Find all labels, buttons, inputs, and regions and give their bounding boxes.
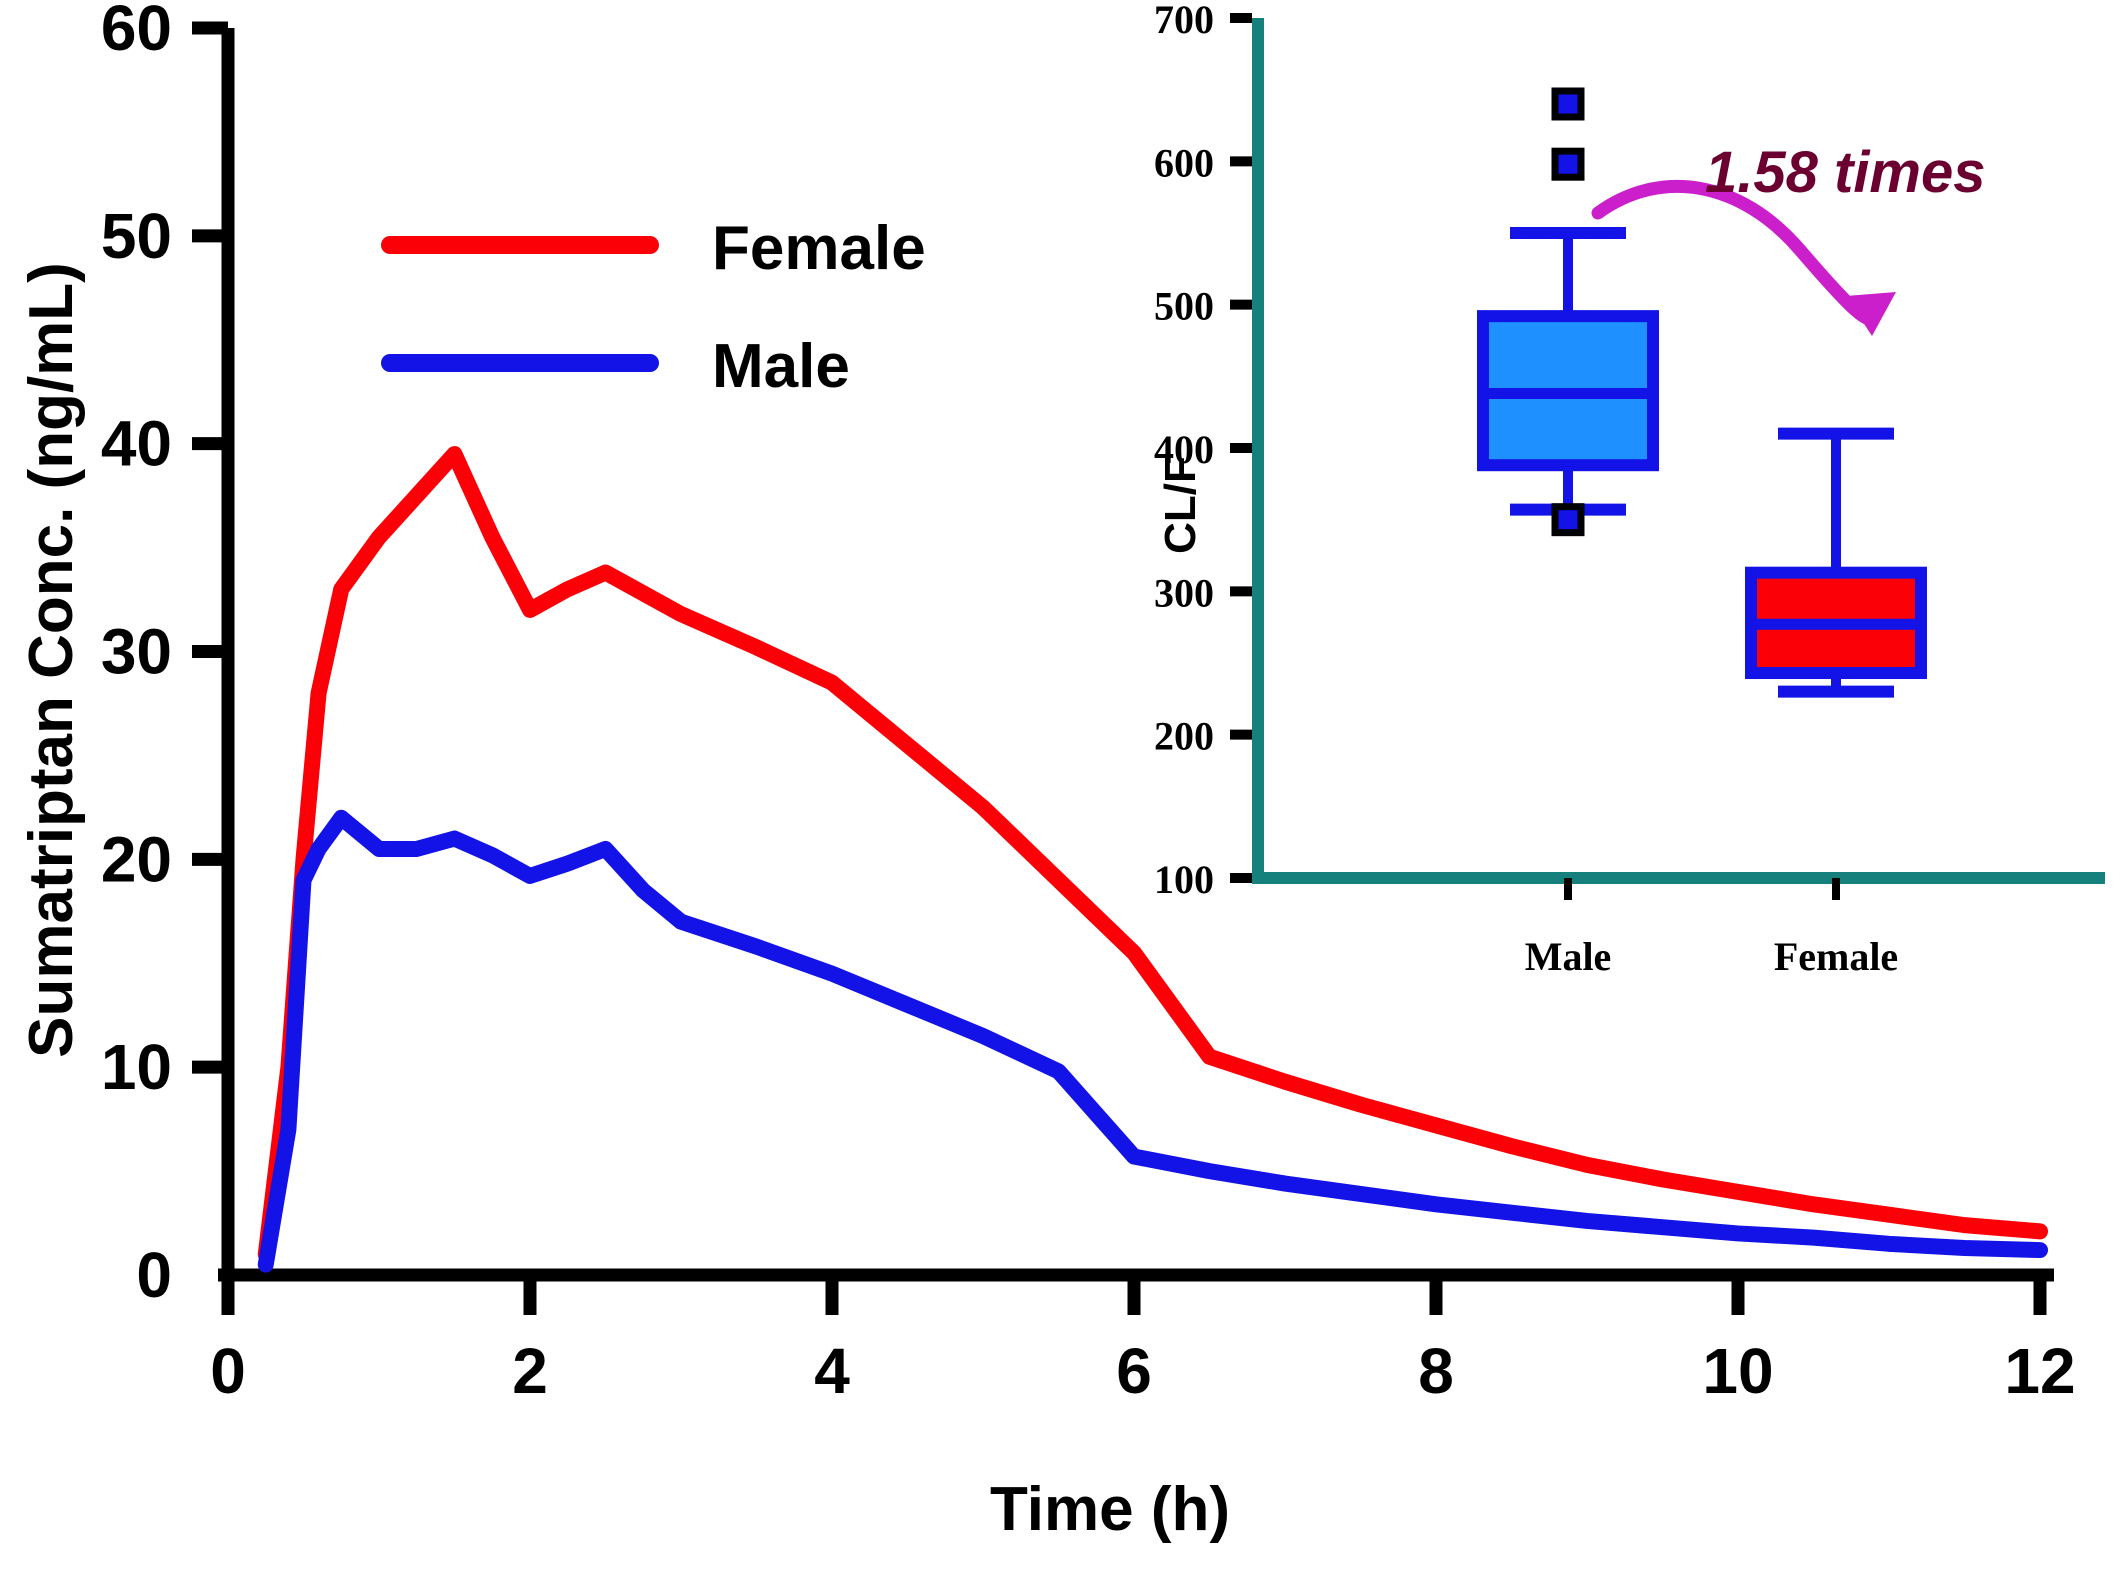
main-x-tick-label: 12 — [2004, 1335, 2075, 1407]
main-y-tick-label: 30 — [101, 616, 172, 688]
legend-label-female: Female — [712, 214, 926, 283]
main-y-tick-label: 10 — [101, 1031, 172, 1103]
main-y-tick-label: 40 — [101, 408, 172, 480]
legend-label-male: Male — [712, 332, 850, 401]
inset-y-tick-label: 500 — [1154, 284, 1214, 329]
pharmacokinetics-figure: 0102030405060024681012Sumatriptan Conc. … — [0, 0, 2128, 1573]
main-y-axis-title: Sumatriptan Conc. (ng/mL) — [17, 262, 86, 1058]
inset-y-tick-label: 200 — [1154, 714, 1214, 759]
main-x-tick-label: 2 — [512, 1335, 548, 1407]
main-y-tick-label: 20 — [101, 823, 172, 895]
main-y-tick-label: 60 — [101, 0, 172, 64]
inset-y-tick-label: 300 — [1154, 570, 1214, 615]
annotation-label: 1.58 times — [1705, 140, 1986, 205]
inset-category-label-male: Male — [1525, 934, 1612, 979]
inset-outlier-point-male — [1555, 151, 1581, 177]
inset-category-label-female: Female — [1774, 934, 1898, 979]
main-x-axis-title: Time (h) — [990, 1475, 1230, 1544]
main-y-tick-label: 0 — [136, 1239, 172, 1311]
inset-outlier-point-male — [1555, 507, 1581, 533]
main-x-tick-label: 4 — [814, 1335, 850, 1407]
figure-canvas: 0102030405060024681012Sumatriptan Conc. … — [0, 0, 2128, 1573]
main-x-tick-label: 8 — [1418, 1335, 1454, 1407]
main-x-tick-label: 10 — [1702, 1335, 1773, 1407]
inset-y-tick-label: 700 — [1154, 0, 1214, 42]
main-x-tick-label: 6 — [1116, 1335, 1152, 1407]
main-y-tick-label: 50 — [101, 200, 172, 272]
annotation-arrow-curve — [1598, 186, 1872, 320]
main-x-tick-label: 0 — [210, 1335, 246, 1407]
inset-y-tick-label: 600 — [1154, 140, 1214, 185]
inset-outlier-point-male — [1555, 91, 1581, 117]
inset-y-axis-title: CL/F — [1156, 456, 1205, 554]
inset-y-tick-label: 100 — [1154, 857, 1214, 902]
